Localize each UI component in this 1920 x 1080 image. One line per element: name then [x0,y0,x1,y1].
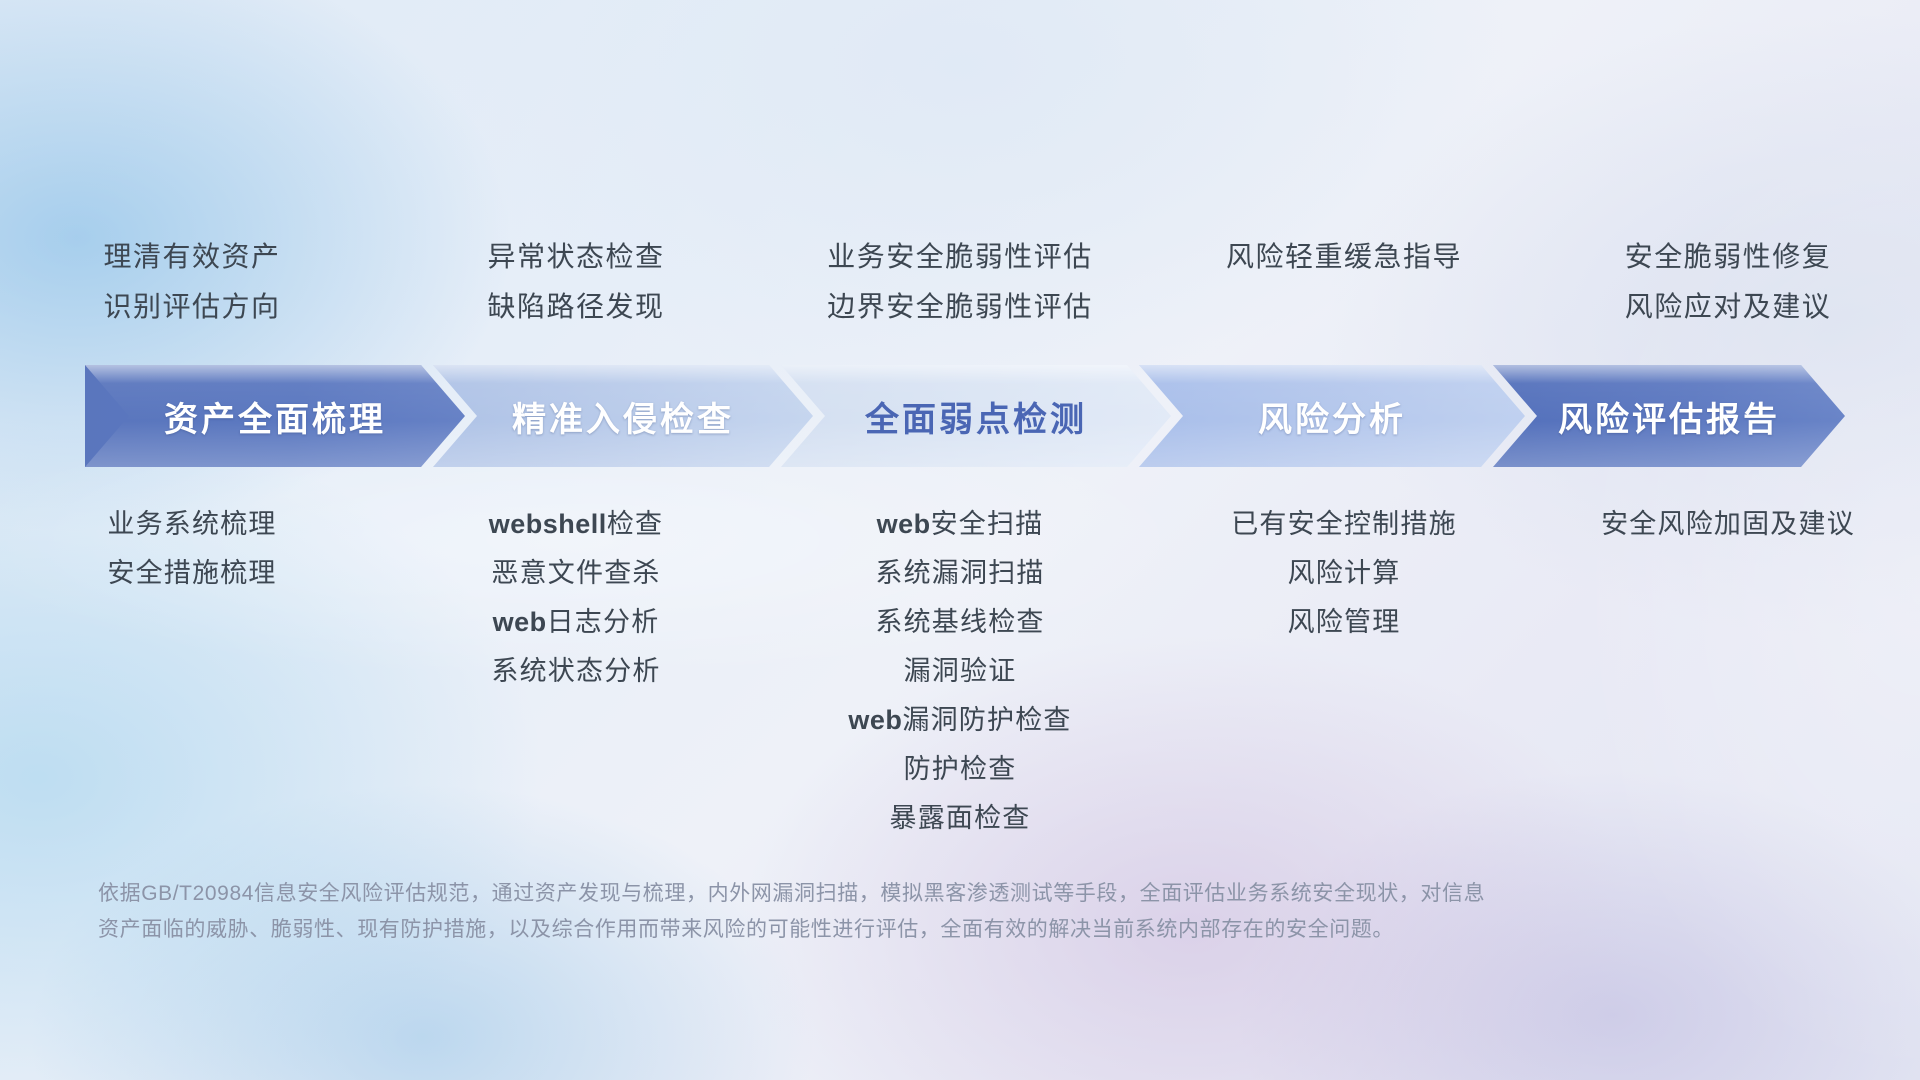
below-list-weakness-detection: web安全扫描 系统漏洞扫描 系统基线检查 漏洞验证 web漏洞防护检查 防护检… [768,500,1152,843]
item-text: 暴露面检查 [890,803,1031,833]
chevron-label: 风险评估报告 [1558,392,1780,441]
list-item: 风险计算 [1152,549,1536,598]
list-item: web日志分析 [384,598,768,647]
chevron-step-intrusion-check[interactable]: 精准入侵检查 [433,365,813,467]
list-item: 漏洞验证 [768,647,1152,696]
item-text: 安全措施梳理 [107,558,276,588]
item-text: 系统状态分析 [491,656,660,686]
item-text: 日志分析 [547,607,660,637]
above-label: 风险应对及建议 [1536,282,1920,332]
chevron-step-weakness-detection[interactable]: 全面弱点检测 [781,365,1171,467]
item-text: 漏洞防护检查 [902,705,1071,735]
footnote-line-1: 依据GB/T20984信息安全风险评估规范，通过资产发现与梳理，内外网漏洞扫描，… [98,876,1658,912]
above-labels-risk-report: 安全脆弱性修复 风险应对及建议 [1536,232,1920,352]
chevron-label: 精准入侵检查 [512,392,734,441]
list-item: 业务系统梳理 [0,500,384,549]
item-text: 业务系统梳理 [107,509,276,539]
above-labels-row: 理清有效资产 识别评估方向 异常状态检查 缺陷路径发现 业务安全脆弱性评估 边界… [0,232,1920,352]
chevron-step-risk-analysis[interactable]: 风险分析 [1139,365,1525,467]
item-text: 已有安全控制措施 [1231,509,1457,539]
footnote: 依据GB/T20984信息安全风险评估规范，通过资产发现与梳理，内外网漏洞扫描，… [98,876,1658,948]
list-item: 安全风险加固及建议 [1536,500,1920,549]
list-item: web安全扫描 [768,500,1152,549]
above-label: 边界安全脆弱性评估 [768,282,1152,332]
above-labels-weakness-detection: 业务安全脆弱性评估 边界安全脆弱性评估 [768,232,1152,352]
above-labels-risk-analysis: 风险轻重缓急指导 [1152,232,1536,352]
item-text: 系统漏洞扫描 [875,558,1044,588]
above-label: 风险轻重缓急指导 [1152,232,1536,282]
latin-prefix: web [877,509,931,539]
chevron-step-asset-inventory[interactable]: 资产全面梳理 [85,365,465,467]
above-labels-asset-inventory: 理清有效资产 识别评估方向 [0,232,384,352]
latin-prefix: web [493,607,547,637]
below-list-risk-analysis: 已有安全控制措施 风险计算 风险管理 [1152,500,1536,647]
list-item: 恶意文件查杀 [384,549,768,598]
item-text: 恶意文件查杀 [491,558,660,588]
item-text: 安全扫描 [931,509,1044,539]
list-item: 风险管理 [1152,598,1536,647]
above-label: 安全脆弱性修复 [1536,232,1920,282]
process-chevron-banner: 资产全面梳理 精准入侵检查 全面弱点检测 风险分析 风险评估报告 [85,365,1845,467]
above-label: 缺陷路径发现 [384,282,768,332]
below-list-intrusion-check: webshell检查 恶意文件查杀 web日志分析 系统状态分析 [384,500,768,696]
above-label: 异常状态检查 [384,232,768,282]
item-text: 风险计算 [1288,558,1401,588]
below-lists-row: 业务系统梳理 安全措施梳理 webshell检查 恶意文件查杀 web日志分析 … [0,500,1920,843]
item-text: 安全风险加固及建议 [1601,509,1855,539]
footnote-line-2: 资产面临的威胁、脆弱性、现有防护措施，以及综合作用而带来风险的可能性进行评估，全… [98,912,1658,948]
item-text: 漏洞验证 [904,656,1017,686]
above-labels-intrusion-check: 异常状态检查 缺陷路径发现 [384,232,768,352]
above-label: 理清有效资产 [0,232,384,282]
latin-prefix: webshell [489,509,607,539]
above-label: 业务安全脆弱性评估 [768,232,1152,282]
list-item: 安全措施梳理 [0,549,384,598]
item-text: 系统基线检查 [875,607,1044,637]
list-item: 系统状态分析 [384,647,768,696]
list-item: 暴露面检查 [768,794,1152,843]
chevron-step-risk-report[interactable]: 风险评估报告 [1493,365,1845,467]
item-text: 风险管理 [1288,607,1401,637]
list-item: 系统基线检查 [768,598,1152,647]
above-label: 识别评估方向 [0,282,384,332]
list-item: web漏洞防护检查 [768,696,1152,745]
list-item: webshell检查 [384,500,768,549]
chevron-label: 全面弱点检测 [865,392,1087,441]
list-item: 系统漏洞扫描 [768,549,1152,598]
item-text: 检查 [607,509,663,539]
chevron-label: 资产全面梳理 [164,392,386,441]
below-list-asset-inventory: 业务系统梳理 安全措施梳理 [0,500,384,598]
item-text: 防护检查 [904,754,1017,784]
latin-prefix: web [848,705,902,735]
list-item: 已有安全控制措施 [1152,500,1536,549]
chevron-label: 风险分析 [1258,392,1406,441]
below-list-risk-report: 安全风险加固及建议 [1536,500,1920,549]
list-item: 防护检查 [768,745,1152,794]
